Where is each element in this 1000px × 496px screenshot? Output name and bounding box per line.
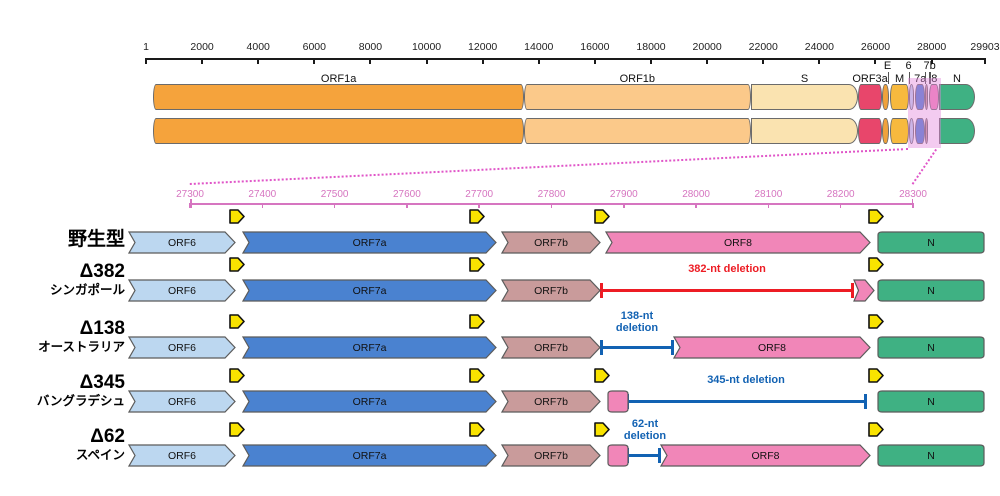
genome-gene-label-orf7b: 7b bbox=[924, 60, 936, 72]
genome-gene-label-m: M bbox=[895, 73, 904, 85]
variant-label-sub: スペイン bbox=[0, 448, 125, 463]
deletion-label: 62-nt deletion bbox=[624, 418, 666, 443]
zoom-ruler-tick-label: 27500 bbox=[321, 189, 349, 200]
trs-marker bbox=[228, 420, 245, 439]
gene-arrow-label: ORF8 bbox=[751, 450, 779, 462]
genome-segment-n bbox=[939, 118, 974, 144]
top-ruler-tick bbox=[369, 58, 371, 64]
gene-arrow-orf8: ORF8 bbox=[673, 336, 871, 359]
deletion-line bbox=[601, 346, 673, 349]
gene-arrow-label: ORF6 bbox=[168, 237, 196, 249]
gene-arrow-label: ORF7b bbox=[534, 285, 568, 297]
genome-segment-m bbox=[890, 118, 909, 144]
genome-gene-label-orf6: 6 bbox=[905, 60, 911, 72]
top-ruler-tick-label: 10000 bbox=[412, 41, 441, 53]
gene-arrow-orf6: ORF6 bbox=[128, 336, 236, 359]
top-ruler-tick-label: 26000 bbox=[861, 41, 890, 53]
top-ruler-tick-label: 29903 bbox=[970, 41, 999, 53]
zoom-ruler-tick bbox=[840, 203, 842, 208]
top-ruler-tick-label: 16000 bbox=[580, 41, 609, 53]
top-ruler-tick bbox=[482, 58, 484, 64]
deletion-line bbox=[627, 454, 660, 457]
genome-gene-label-orf1b: ORF1b bbox=[620, 73, 655, 85]
gene-arrow-orf8: ORF8 bbox=[660, 444, 871, 467]
genome-gene-label-e: E bbox=[884, 60, 891, 72]
genome-gene-label-orf1a: ORF1a bbox=[321, 73, 356, 85]
deletion-cap-right bbox=[864, 394, 867, 409]
zoom-ruler-tick bbox=[406, 203, 408, 208]
gene-arrow-n: N bbox=[877, 444, 985, 467]
zoom-ruler-cap-right bbox=[912, 199, 914, 208]
zoom-ruler-tick bbox=[262, 203, 264, 208]
gene-arrow-label: ORF7b bbox=[534, 396, 568, 408]
trs-marker bbox=[867, 366, 884, 385]
variant-row-label-4: Δ62スペイン bbox=[0, 426, 125, 463]
zoom-ruler-cap-left bbox=[190, 199, 192, 208]
zoom-ruler-tick-label: 27900 bbox=[610, 189, 638, 200]
genome-segment-orf1a bbox=[153, 118, 523, 144]
variant-row-label-1: Δ382シンガポール bbox=[0, 261, 125, 298]
gene-arrow-label: N bbox=[927, 237, 935, 249]
genome-segment-m bbox=[890, 84, 909, 110]
trs-marker bbox=[228, 255, 245, 274]
top-ruler-tick bbox=[874, 58, 876, 64]
top-ruler-tick bbox=[313, 58, 315, 64]
gene-arrow-label: ORF7a bbox=[353, 342, 387, 354]
gene-arrow-label: ORF7a bbox=[353, 237, 387, 249]
variant-row-label-3: Δ345バングラデシュ bbox=[0, 372, 125, 409]
zoom-ruler-tick bbox=[551, 203, 553, 208]
deletion-line bbox=[601, 289, 853, 292]
zoom-ruler-tick-label: 27800 bbox=[538, 189, 566, 200]
zoom-ruler-tick-label: 28000 bbox=[682, 189, 710, 200]
top-ruler-tick-label: 6000 bbox=[303, 41, 326, 53]
top-ruler-tick bbox=[818, 58, 820, 64]
genome-segment-orf1a bbox=[153, 84, 523, 110]
genome-segment-e bbox=[882, 118, 888, 144]
gene-arrow-label: N bbox=[927, 450, 935, 462]
gene-arrow-orf8: ORF8 bbox=[605, 231, 871, 254]
top-ruler-tick bbox=[257, 58, 259, 64]
trs-marker bbox=[468, 366, 485, 385]
gene-arrow-orf6: ORF6 bbox=[128, 390, 236, 413]
trs-marker bbox=[468, 420, 485, 439]
gene-arrow-orf6: ORF6 bbox=[128, 279, 236, 302]
genome-gene-label-n: N bbox=[953, 73, 961, 85]
genome-segment-orf1b bbox=[524, 84, 751, 110]
zoom-ruler-tick-label: 28300 bbox=[899, 189, 927, 200]
gene-arrow-orf7a: ORF7a bbox=[242, 390, 497, 413]
zoom-ruler-tick-label: 28100 bbox=[754, 189, 782, 200]
variant-label-sub: バングラデシュ bbox=[0, 394, 125, 409]
genome-bar-row bbox=[0, 118, 1000, 144]
gene-arrow-orf8-remnant bbox=[607, 390, 629, 413]
zoom-ruler-tick-label: 27600 bbox=[393, 189, 421, 200]
genome-segment-s bbox=[751, 118, 858, 144]
top-ruler-tick bbox=[426, 58, 428, 64]
variant-label-sub: シンガポール bbox=[0, 283, 125, 298]
trs-marker bbox=[468, 312, 485, 331]
zoom-ruler-tick bbox=[623, 203, 625, 208]
top-ruler-tick-label: 22000 bbox=[749, 41, 778, 53]
gene-arrow-orf7a: ORF7a bbox=[242, 231, 497, 254]
gene-arrow-label: ORF7b bbox=[534, 237, 568, 249]
gene-arrow-n: N bbox=[877, 390, 985, 413]
genome-gene-leader-e bbox=[888, 72, 889, 84]
zoom-ruler-tick bbox=[334, 203, 336, 208]
top-ruler-tick bbox=[650, 58, 652, 64]
top-ruler-tick-label: 18000 bbox=[636, 41, 665, 53]
genome-segment-orf1b bbox=[524, 118, 751, 144]
connector-line-right bbox=[911, 149, 937, 185]
gene-arrow-orf7b: ORF7b bbox=[501, 231, 601, 254]
variant-row-label-2: Δ138オーストラリア bbox=[0, 318, 125, 355]
deletion-label: 138-nt deletion bbox=[616, 310, 658, 335]
gene-arrow-orf7b: ORF7b bbox=[501, 336, 601, 359]
top-ruler-tick bbox=[201, 58, 203, 64]
top-ruler-tick-label: 28000 bbox=[917, 41, 946, 53]
gene-arrow-label: ORF6 bbox=[168, 285, 196, 297]
gene-arrow-n: N bbox=[877, 231, 985, 254]
connector-line-left bbox=[190, 148, 908, 185]
zoom-ruler-tick-label: 27400 bbox=[248, 189, 276, 200]
figure-canvas: 1200040006000800010000120001400016000180… bbox=[0, 0, 1000, 496]
trs-marker bbox=[468, 255, 485, 274]
top-ruler-tick-label: 4000 bbox=[247, 41, 270, 53]
deletion-label: 345-nt deletion bbox=[707, 374, 785, 386]
variant-label-sub: オーストラリア bbox=[0, 340, 125, 355]
gene-arrow-label: ORF7b bbox=[534, 450, 568, 462]
gene-arrow-label: ORF7a bbox=[353, 396, 387, 408]
gene-arrow-label: N bbox=[927, 285, 935, 297]
trs-marker bbox=[867, 312, 884, 331]
trs-marker bbox=[228, 366, 245, 385]
gene-arrow-orf7b: ORF7b bbox=[501, 444, 601, 467]
gene-arrow-label: N bbox=[927, 396, 935, 408]
trs-marker bbox=[867, 420, 884, 439]
gene-arrow-label: ORF8 bbox=[724, 237, 752, 249]
top-ruler-axis bbox=[146, 58, 985, 60]
gene-arrow-label: ORF7b bbox=[534, 342, 568, 354]
deletion-line bbox=[627, 400, 866, 403]
gene-arrow-label: N bbox=[927, 342, 935, 354]
trs-marker bbox=[867, 207, 884, 226]
gene-arrow-orf8-remnant bbox=[853, 279, 875, 302]
gene-arrow-label: ORF8 bbox=[758, 342, 786, 354]
gene-arrow-orf7a: ORF7a bbox=[242, 444, 497, 467]
gene-arrow-orf7a: ORF7a bbox=[242, 336, 497, 359]
genome-segment-s bbox=[751, 84, 858, 110]
gene-arrow-label: ORF7a bbox=[353, 285, 387, 297]
gene-arrow-orf7b: ORF7b bbox=[501, 279, 601, 302]
gene-arrow-orf6: ORF6 bbox=[128, 231, 236, 254]
top-ruler-tick bbox=[145, 58, 147, 64]
zoom-ruler-tick bbox=[768, 203, 770, 208]
deletion-label: 382-nt deletion bbox=[688, 263, 766, 275]
genome-gene-label-s: S bbox=[801, 73, 808, 85]
variant-row-label-0: 野生型 bbox=[0, 229, 125, 251]
gene-arrow-orf6: ORF6 bbox=[128, 444, 236, 467]
gene-arrow-n: N bbox=[877, 279, 985, 302]
top-ruler-tick-label: 24000 bbox=[805, 41, 834, 53]
trs-marker bbox=[593, 207, 610, 226]
top-ruler-tick bbox=[594, 58, 596, 64]
top-ruler-tick bbox=[706, 58, 708, 64]
zoom-ruler-tick bbox=[695, 203, 697, 208]
trs-marker bbox=[593, 420, 610, 439]
top-ruler-tick-label: 14000 bbox=[524, 41, 553, 53]
variant-label-main: Δ138 bbox=[0, 318, 125, 340]
genome-gene-label-orf3a: ORF3a bbox=[852, 73, 887, 85]
top-ruler-tick-label: 2000 bbox=[190, 41, 213, 53]
trs-marker bbox=[468, 207, 485, 226]
genome-segment-orf3a bbox=[858, 84, 881, 110]
gene-arrow-label: ORF6 bbox=[168, 396, 196, 408]
gene-arrow-n: N bbox=[877, 336, 985, 359]
top-ruler-tick-label: 12000 bbox=[468, 41, 497, 53]
variant-label-main: Δ62 bbox=[0, 426, 125, 448]
top-ruler-tick bbox=[762, 58, 764, 64]
gene-arrow-orf7b: ORF7b bbox=[501, 390, 601, 413]
top-ruler-tick-label: 1 bbox=[143, 41, 149, 53]
genome-segment-orf3a bbox=[858, 118, 881, 144]
gene-arrow-orf7a: ORF7a bbox=[242, 279, 497, 302]
zoom-ruler-tick-label: 27700 bbox=[465, 189, 493, 200]
gene-arrow-label: ORF7a bbox=[353, 450, 387, 462]
genome-bar-row bbox=[0, 84, 1000, 110]
trs-marker bbox=[593, 366, 610, 385]
gene-arrow-label: ORF6 bbox=[168, 450, 196, 462]
deletion-region-highlight bbox=[908, 78, 941, 148]
variant-label-main: Δ345 bbox=[0, 372, 125, 394]
genome-segment-n bbox=[939, 84, 974, 110]
gene-arrow-label: ORF6 bbox=[168, 342, 196, 354]
top-ruler-tick-label: 8000 bbox=[359, 41, 382, 53]
gene-arrow-orf8-remnant bbox=[607, 444, 629, 467]
trs-marker bbox=[228, 312, 245, 331]
top-ruler-tick-label: 20000 bbox=[693, 41, 722, 53]
trs-marker bbox=[228, 207, 245, 226]
zoom-ruler-tick-label: 28200 bbox=[827, 189, 855, 200]
trs-marker bbox=[867, 255, 884, 274]
variant-label-main: Δ382 bbox=[0, 261, 125, 283]
genome-segment-e bbox=[882, 84, 888, 110]
top-ruler-tick bbox=[984, 58, 986, 64]
top-ruler-tick bbox=[538, 58, 540, 64]
variant-label-main: 野生型 bbox=[0, 229, 125, 251]
